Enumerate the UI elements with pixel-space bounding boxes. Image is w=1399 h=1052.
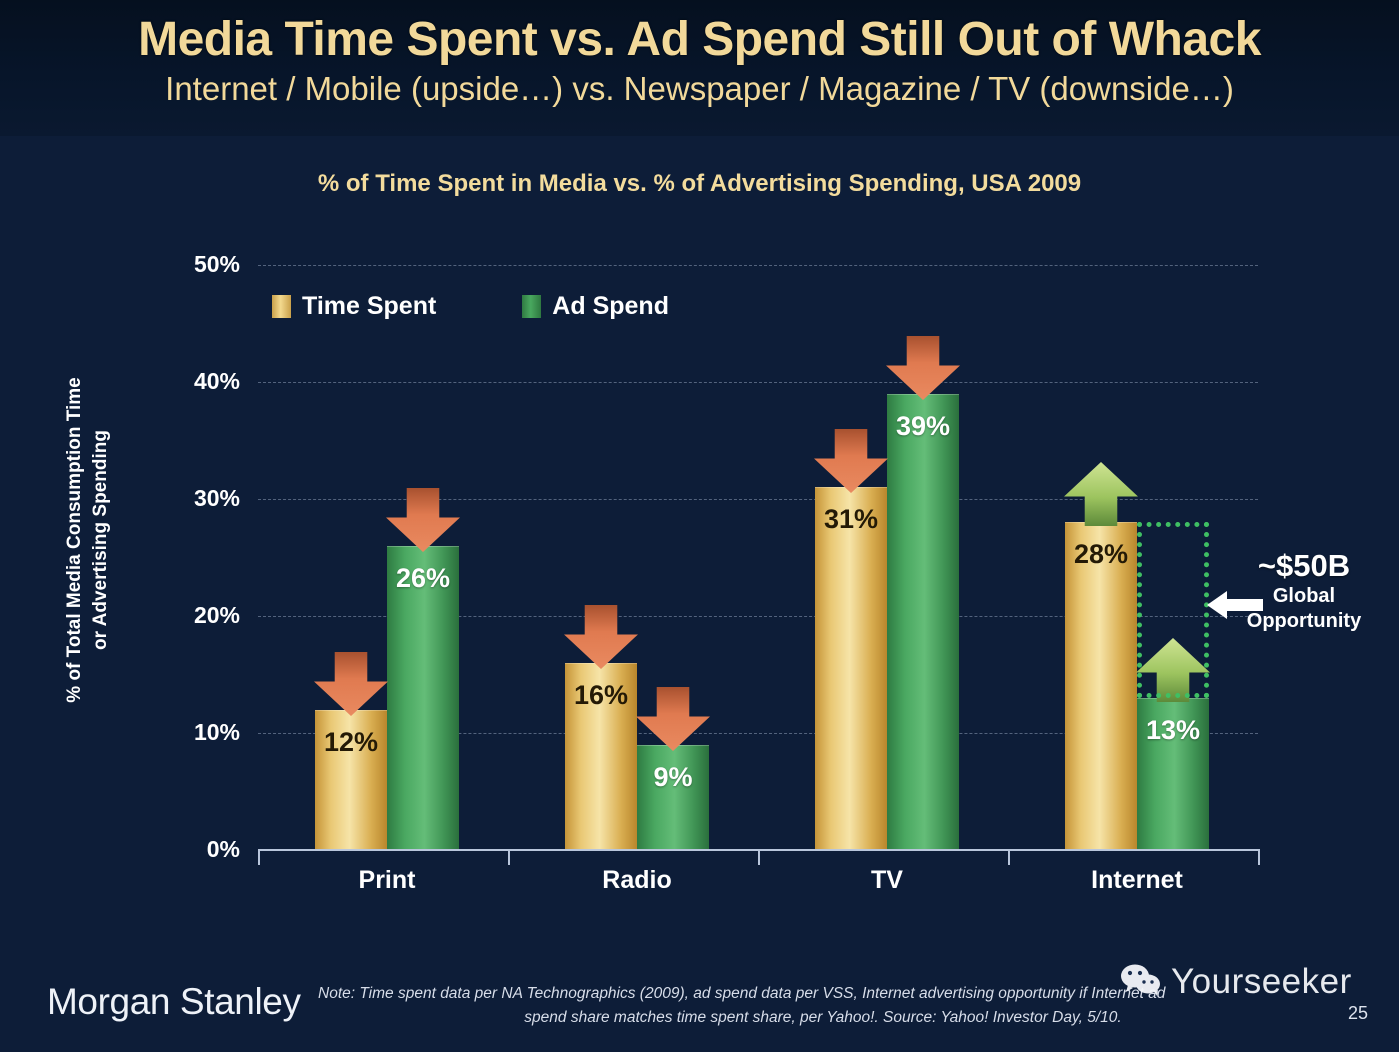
legend-label-ad-spend: Ad Spend (552, 292, 669, 321)
slide-root: Media Time Spent vs. Ad Spend Still Out … (0, 0, 1399, 1052)
bar-radio-ad-spend[interactable]: 9% (637, 745, 709, 850)
legend-swatch-green-icon (522, 295, 541, 318)
bar-tv-time-spent[interactable]: 31% (815, 487, 887, 850)
slide-header: Media Time Spent vs. Ad Spend Still Out … (0, 0, 1399, 136)
legend-item-ad-spend[interactable]: Ad Spend (522, 292, 669, 321)
watermark-text: Yourseeker (1171, 962, 1352, 1002)
page-subtitle: Internet / Mobile (upside…) vs. Newspape… (0, 70, 1399, 108)
bar-value-label: 12% (315, 727, 387, 758)
y-axis-title-line1: % of Total Media Consumption Time (64, 377, 85, 702)
wechat-logo-icon (1120, 963, 1162, 1002)
bar-value-label: 26% (387, 563, 459, 594)
down-arrow-icon (886, 336, 960, 400)
category-label-tv: TV (762, 866, 1012, 895)
callout-line3: Opportunity (1218, 609, 1390, 634)
bar-radio-time-spent[interactable]: 16% (565, 663, 637, 850)
page-number: 25 (1348, 1003, 1368, 1024)
legend-swatch-gold-icon (272, 295, 291, 318)
bar-value-label: 13% (1137, 715, 1209, 746)
bar-value-label: 31% (815, 504, 887, 535)
down-arrow-icon (814, 429, 888, 493)
y-axis-tick-label: 30% (120, 485, 240, 512)
callout-line2: Global (1218, 584, 1390, 609)
chart-legend: Time Spent Ad Spend (272, 292, 669, 321)
x-axis-tick-end (258, 851, 260, 865)
opportunity-callout: ~$50B Global Opportunity (1218, 548, 1390, 634)
x-axis-tick (758, 851, 760, 865)
bar-print-time-spent[interactable]: 12% (315, 710, 387, 850)
down-arrow-icon (386, 488, 460, 552)
x-axis-tick (1008, 851, 1010, 865)
gridline (258, 382, 1258, 383)
bar-print-ad-spend[interactable]: 26% (387, 546, 459, 850)
y-axis-title-line2: or Advertising Spending (90, 430, 111, 650)
bar-value-label: 28% (1065, 539, 1137, 570)
y-axis-tick-label: 10% (120, 719, 240, 746)
category-label-radio: Radio (512, 866, 762, 895)
y-axis-tick-label: 20% (120, 602, 240, 629)
morgan-stanley-logo: Morgan Stanley (47, 981, 301, 1023)
x-axis-tick (508, 851, 510, 865)
category-label-print: Print (262, 866, 512, 895)
watermark: Yourseeker (1120, 962, 1352, 1002)
y-axis-tick-label: 40% (120, 368, 240, 395)
footnote-line2: spend share matches time spent share, pe… (318, 1006, 1328, 1030)
bar-internet-ad-spend[interactable]: 13% (1137, 698, 1209, 850)
bar-internet-time-spent[interactable]: 28% (1065, 522, 1137, 850)
plot-area: 12%26%16%9%31%39%28%13% (258, 265, 1258, 850)
chart-title: % of Time Spent in Media vs. % of Advert… (0, 170, 1399, 198)
bar-value-label: 16% (565, 680, 637, 711)
up-arrow-icon (1064, 462, 1138, 526)
page-title: Media Time Spent vs. Ad Spend Still Out … (0, 12, 1399, 67)
down-arrow-icon (564, 605, 638, 669)
category-label-internet: Internet (1012, 866, 1262, 895)
gridline (258, 265, 1258, 266)
y-axis-tick-label: 0% (120, 836, 240, 863)
bar-value-label: 9% (637, 762, 709, 793)
bar-value-label: 39% (887, 411, 959, 442)
bar-tv-ad-spend[interactable]: 39% (887, 394, 959, 850)
legend-label-time-spent: Time Spent (302, 292, 436, 321)
y-axis-tick-label: 50% (120, 251, 240, 278)
x-axis-tick-end (1258, 851, 1260, 865)
down-arrow-icon (314, 652, 388, 716)
callout-amount: ~$50B (1218, 548, 1390, 584)
y-axis-title: % of Total Media Consumption Time or Adv… (62, 330, 122, 750)
legend-item-time-spent[interactable]: Time Spent (272, 292, 436, 321)
opportunity-box (1137, 522, 1209, 698)
down-arrow-icon (636, 687, 710, 751)
